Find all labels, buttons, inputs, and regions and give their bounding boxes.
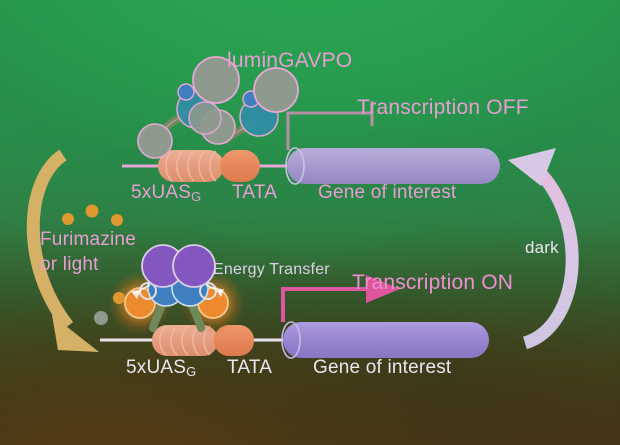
label-tata-top: TATA — [232, 183, 277, 202]
label-lumingavpo: luminGAVPO — [227, 50, 352, 71]
label-uas-top-subscript: G — [191, 189, 201, 204]
label-uas-bottom-text: 5xUAS — [126, 357, 186, 378]
label-furimazine: Furimazine — [40, 230, 136, 249]
label-uas-top-text: 5xUAS — [131, 182, 191, 203]
label-gene-of-interest-top: Gene of interest — [318, 183, 456, 202]
label-uas-top: 5xUASG — [131, 183, 201, 204]
tata-box-top — [220, 150, 260, 182]
label-transcription-off: Transcription OFF — [357, 97, 529, 118]
lumingavpo-monomer-3 — [189, 102, 221, 134]
label-tata-bottom: TATA — [227, 358, 272, 377]
label-uas-bottom-subscript: G — [186, 364, 196, 379]
label-transcription-on: Transcription ON — [352, 272, 513, 293]
label-dark: dark — [525, 239, 559, 256]
label-energy-transfer: Energy Transfer — [213, 262, 330, 278]
label-gene-of-interest-bottom: Gene of interest — [313, 358, 451, 377]
figure-canvas: luminGAVPO Transcription OFF 5xUASG TATA… — [0, 0, 620, 445]
gene-cylinder-bottom — [283, 322, 489, 358]
lov-domain-right — [173, 245, 215, 287]
off-state-group — [122, 57, 500, 184]
label-or-light: or light — [40, 255, 99, 274]
gene-cylinder-top — [287, 148, 500, 184]
label-uas-bottom: 5xUASG — [126, 358, 196, 379]
